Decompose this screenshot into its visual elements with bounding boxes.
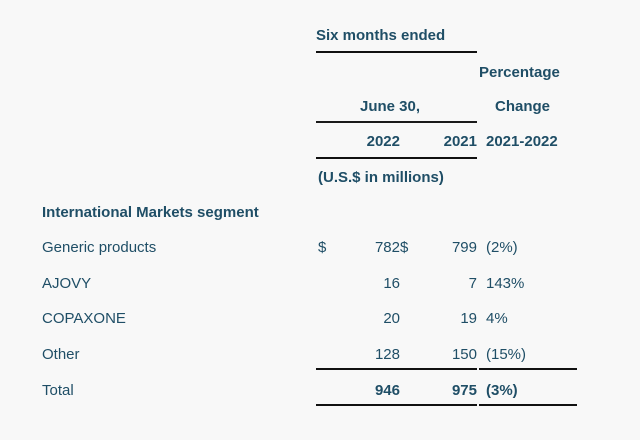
cell-copaxone-pct: 4% — [486, 311, 508, 326]
rule-under-column-headers — [316, 157, 477, 159]
cell-total-2022: 946 — [375, 383, 400, 398]
rule-below-total-values — [316, 404, 477, 406]
row-label-generic-products: Generic products — [42, 240, 156, 255]
cell-other-2021: 150 — [452, 347, 477, 362]
currency-symbol-2022: $ — [318, 240, 326, 255]
row-label-other: Other — [42, 347, 80, 362]
cell-ajovy-2022: 16 — [383, 276, 400, 291]
cell-generic-products-pct: (2%) — [486, 240, 518, 255]
cell-copaxone-2021: 19 — [460, 311, 477, 326]
cell-other-2022: 128 — [375, 347, 400, 362]
row-label-total: Total — [42, 383, 74, 398]
units-note: (U.S.$ in millions) — [318, 170, 444, 185]
change-label: Change — [495, 99, 550, 114]
row-label-ajovy: AJOVY — [42, 276, 91, 291]
percentage-label: Percentage — [479, 65, 560, 80]
period-title: Six months ended — [316, 28, 445, 43]
cell-other-pct: (15%) — [486, 347, 526, 362]
column-header-2022: 2022 — [367, 134, 400, 149]
segment-title: International Markets segment — [42, 205, 259, 220]
cell-total-2021: 975 — [452, 383, 477, 398]
financial-table: Six months ended Percentage Change June … — [0, 0, 640, 440]
column-header-2021: 2021 — [444, 134, 477, 149]
rule-above-total-pct — [479, 368, 577, 370]
cell-ajovy-pct: 143% — [486, 276, 524, 291]
rule-above-total-values — [316, 368, 477, 370]
rule-below-total-pct — [479, 404, 577, 406]
cell-total-pct: (3%) — [486, 383, 518, 398]
cell-ajovy-2021: 7 — [469, 276, 477, 291]
cell-generic-products-2021: 799 — [452, 240, 477, 255]
rule-under-period-title — [316, 51, 477, 53]
date-title: June 30, — [360, 99, 420, 114]
cell-copaxone-2022: 20 — [383, 311, 400, 326]
column-header-percentage-change: 2021-2022 — [486, 134, 558, 149]
cell-generic-products-2022: 782 — [375, 240, 400, 255]
rule-under-date-title — [316, 121, 477, 123]
currency-symbol-2021: $ — [400, 240, 408, 255]
row-label-copaxone: COPAXONE — [42, 311, 126, 326]
